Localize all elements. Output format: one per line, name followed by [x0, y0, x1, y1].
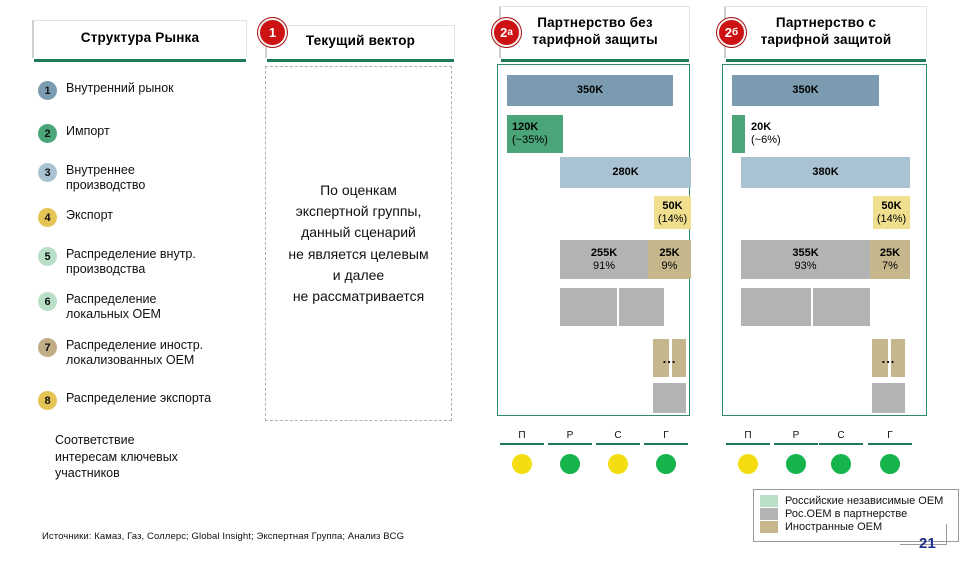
- legend-swatch-green: [760, 495, 778, 507]
- indicator-dot-yellow: [512, 454, 532, 474]
- sidebar-item-1[interactable]: 1 Внутренний рынок: [38, 81, 174, 100]
- indicator-dot-green: [831, 454, 851, 474]
- sidebar-item-label-6: Распределение локальных ОЕМ: [66, 292, 161, 323]
- indicator-dot-green: [560, 454, 580, 474]
- bar-export: 50K (14%): [654, 196, 691, 229]
- legend-swatch-tan: [760, 521, 778, 533]
- bar-export-label: 50K: [662, 200, 682, 213]
- sidebar-item-6[interactable]: 6 Распределение локальных ОЕМ: [38, 292, 161, 323]
- indicator-with-tariff-4[interactable]: Г: [868, 431, 912, 474]
- bar-local-oem-split-a: [741, 288, 811, 326]
- bar-foreign-oem-share: 9%: [662, 260, 678, 273]
- sidebar-item-label-7: Распределение иностр. локализованных ОЕМ: [66, 338, 203, 369]
- source-footnote: Источники: Камаз, Газ, Соллерс; Global I…: [42, 531, 404, 542]
- indicator-with-tariff-1[interactable]: П: [726, 431, 770, 474]
- bar-foreign-oem-share: 7%: [882, 260, 898, 273]
- badge-number-3: 3: [38, 163, 57, 182]
- callout-badge-2a: 2a: [492, 18, 521, 47]
- bar-local-oem-label: 255K: [591, 247, 617, 260]
- sidebar-item-4[interactable]: 4 Экспорт: [38, 208, 113, 227]
- indicator-no-tariff-2[interactable]: Р: [548, 431, 592, 474]
- indicator-label-g: Г: [644, 431, 688, 443]
- bar-domestic-production-label: 280K: [612, 166, 638, 179]
- bar-local-oem: 255K 91%: [560, 240, 648, 279]
- bar-export-share: (14%): [877, 213, 906, 226]
- badge-number-1: 1: [38, 81, 57, 100]
- indicator-label-r: Р: [774, 431, 818, 443]
- indicator-dot-yellow: [608, 454, 628, 474]
- indicator-label-g: Г: [868, 431, 912, 443]
- indicator-rule: [868, 443, 912, 445]
- indicator-with-tariff-3[interactable]: С: [819, 431, 863, 474]
- bar-export-label: 50K: [881, 200, 901, 213]
- indicator-no-tariff-3[interactable]: С: [596, 431, 640, 474]
- bar-local-oem-label: 355K: [792, 247, 818, 260]
- sidebar-title: Структура Рынка: [81, 30, 199, 46]
- sidebar-item-3[interactable]: 3 Внутреннее производство: [38, 163, 145, 194]
- bar-domestic-production: 380K: [741, 157, 910, 188]
- badge-number-8: 8: [38, 391, 57, 410]
- sidebar-item-8[interactable]: 8 Распределение экспорта: [38, 391, 211, 410]
- badge-number-7: 7: [38, 338, 57, 357]
- indicator-dot-yellow: [738, 454, 758, 474]
- indicator-label-s: С: [819, 431, 863, 443]
- bar-local-oem-share: 93%: [794, 260, 816, 273]
- sidebar-item-7[interactable]: 7 Распределение иностр. локализованных О…: [38, 338, 203, 369]
- bar-import-text: 20K (~6%): [746, 115, 816, 153]
- indicator-dot-green: [786, 454, 806, 474]
- sidebar-item-2[interactable]: 2 Импорт: [38, 124, 110, 143]
- bar-foreign-oem-label: 25K: [880, 247, 900, 260]
- indicator-rule: [596, 443, 640, 445]
- current-vector-panel: По оценкам экспертной группы, данный сце…: [265, 66, 452, 421]
- indicator-label-r: Р: [548, 431, 592, 443]
- bar-import: 120K (~35%): [507, 115, 563, 153]
- indicator-rule: [548, 443, 592, 445]
- bar-foreign-oem: 25K 7%: [870, 240, 910, 279]
- legend-label-partner-oem: Рос.ОЕМ в партнерстве: [785, 508, 907, 520]
- bar-import-label: 20K: [751, 121, 771, 134]
- ellipsis-indicator: ...: [872, 339, 905, 377]
- ellipsis-indicator: ...: [653, 339, 686, 377]
- bar-domestic-production-label: 380K: [812, 166, 838, 179]
- current-vector-body: По оценкам экспертной группы, данный сце…: [288, 180, 428, 308]
- legend-item-partner-oem: Рос.ОЕМ в партнерстве: [760, 508, 952, 520]
- indicator-label-s: С: [596, 431, 640, 443]
- indicator-label-p: П: [726, 431, 770, 443]
- bar-export-split: [872, 383, 905, 413]
- legend-item-independent-oem: Российские независимые ОЕМ: [760, 495, 952, 507]
- no-tariff-chart: 350K 120K (~35%) 280K 50K (14%) 255K 91%…: [497, 64, 690, 416]
- badge-number-5: 5: [38, 247, 57, 266]
- bar-import: [732, 115, 745, 153]
- indicator-with-tariff-2[interactable]: Р: [774, 431, 818, 474]
- bar-import-share: (~35%): [512, 134, 548, 147]
- indicator-no-tariff-4[interactable]: Г: [644, 431, 688, 474]
- bar-foreign-oem: 25K 9%: [648, 240, 691, 279]
- badge-number-6: 6: [38, 292, 57, 311]
- bar-local-oem: 355K 93%: [741, 240, 870, 279]
- bar-export: 50K (14%): [873, 196, 910, 229]
- bar-import-label: 120K: [512, 121, 538, 134]
- bar-local-oem-split-a: [560, 288, 617, 326]
- legend-label-foreign-oem: Иностранные ОЕМ: [785, 521, 882, 533]
- current-vector-header: Текущий вектор: [265, 25, 455, 58]
- indicator-rule: [774, 443, 818, 445]
- legend-label-independent-oem: Российские независимые ОЕМ: [785, 495, 943, 507]
- with-tariff-chart: 350K 20K (~6%) 380K 50K (14%) 355K 93% 2…: [722, 64, 927, 416]
- current-vector-title: Текущий вектор: [306, 33, 415, 49]
- sidebar-header: Структура Рынка: [32, 20, 247, 58]
- callout-badge-2a-main: 2: [500, 25, 507, 40]
- bar-export-share: (14%): [658, 213, 687, 226]
- badge-number-4: 4: [38, 208, 57, 227]
- with-tariff-title: Партнерство с тарифной защитой: [761, 15, 892, 48]
- sidebar-item-label-1: Внутренний рынок: [66, 81, 174, 96]
- bar-domestic-market: 350K: [507, 75, 673, 106]
- no-tariff-header: Партнерство без тарифной защиты: [499, 6, 690, 58]
- sidebar-item-label-2: Импорт: [66, 124, 110, 139]
- callout-badge-2b-sub: б: [732, 27, 738, 38]
- sidebar-item-label-3: Внутреннее производство: [66, 163, 145, 194]
- indicator-label-p: П: [500, 431, 544, 443]
- callout-badge-2b-main: 2: [725, 25, 732, 40]
- sidebar-item-5[interactable]: 5 Распределение внутр. производства: [38, 247, 196, 278]
- bar-foreign-oem-label: 25K: [659, 247, 679, 260]
- page-number: 21: [919, 535, 936, 552]
- legend-swatch-gray: [760, 508, 778, 520]
- bar-domestic-market: 350K: [732, 75, 879, 106]
- bar-import-share: (~6%): [751, 134, 781, 147]
- bar-local-oem-split-b: [619, 288, 664, 326]
- callout-badge-1-label: 1: [269, 25, 276, 40]
- sidebar-item-label-4: Экспорт: [66, 208, 113, 223]
- bar-local-oem-share: 91%: [593, 260, 615, 273]
- indicator-rule: [500, 443, 544, 445]
- indicator-rule: [644, 443, 688, 445]
- indicator-rule: [819, 443, 863, 445]
- sidebar-note: Соответствие интересам ключевых участник…: [55, 432, 245, 482]
- bar-export-split: [653, 383, 686, 413]
- no-tariff-title: Партнерство без тарифной защиты: [532, 15, 658, 48]
- with-tariff-header: Партнерство с тарифной защитой: [724, 6, 927, 58]
- indicator-no-tariff-1[interactable]: П: [500, 431, 544, 474]
- indicator-dot-green: [880, 454, 900, 474]
- badge-number-2: 2: [38, 124, 57, 143]
- bar-domestic-market-label: 350K: [577, 84, 603, 97]
- callout-badge-1: 1: [258, 18, 287, 47]
- indicator-rule: [726, 443, 770, 445]
- callout-badge-2b: 2б: [717, 18, 746, 47]
- sidebar-item-label-8: Распределение экспорта: [66, 391, 211, 406]
- bar-domestic-production: 280K: [560, 157, 691, 188]
- bar-domestic-market-label: 350K: [792, 84, 818, 97]
- slide-root: Структура Рынка 1 Внутренний рынок 2 Имп…: [0, 0, 977, 564]
- indicator-dot-green: [656, 454, 676, 474]
- callout-badge-2a-sub: a: [507, 27, 513, 38]
- bar-local-oem-split-b: [813, 288, 870, 326]
- sidebar-item-label-5: Распределение внутр. производства: [66, 247, 196, 278]
